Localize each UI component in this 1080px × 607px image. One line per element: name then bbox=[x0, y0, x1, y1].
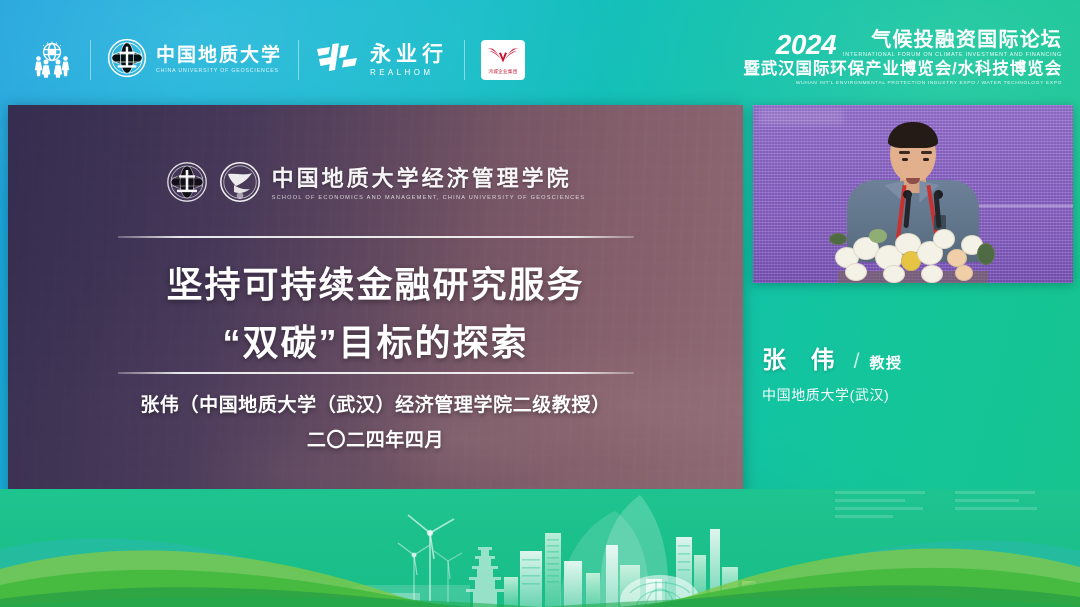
slide-title-line1: 坚持可持续金融研究服务 bbox=[166, 264, 584, 305]
hongcheng-logo-box: 鸿城企业集团 bbox=[481, 40, 525, 80]
slide-divider-bottom bbox=[118, 372, 634, 374]
school-name-cn: 中国地质大学经济管理学院 bbox=[272, 168, 586, 190]
cug-seal-icon bbox=[107, 38, 147, 83]
globe-people-icon bbox=[30, 38, 74, 83]
presentation-slide: 中国地质大学经济管理学院 SCHOOL OF ECONOMICS AND MAN… bbox=[8, 105, 743, 520]
speaker-eyebrow-right bbox=[921, 151, 932, 154]
speaker-title: 教授 bbox=[870, 352, 903, 373]
forum-year: 2024 bbox=[776, 32, 836, 59]
forum-subtitle-cn: 暨武汉国际环保产业博览会/水科技博览会 bbox=[743, 61, 1062, 78]
forum-subtitle-en: WUHAN INT'L ENVIRONMENTAL PROTECTION IND… bbox=[743, 81, 1062, 87]
speaker-eyebrow-left bbox=[899, 151, 910, 154]
speaker-eye-right bbox=[923, 158, 929, 161]
school-logo-lockup: 中国地质大学经济管理学院 SCHOOL OF ECONOMICS AND MAN… bbox=[166, 161, 586, 208]
slide-title: 坚持可持续金融研究服务 “双碳”目标的探索 bbox=[166, 256, 584, 373]
forum-title-stack: 气候投融资国际论坛 INTERNATIONAL FORUM ON CLIMATE… bbox=[843, 30, 1062, 58]
slide-divider-top bbox=[118, 236, 634, 238]
sponsor-logo-realhom: 永业行 REALHOM bbox=[299, 37, 464, 83]
slide-content: 中国地质大学经济管理学院 SCHOOL OF ECONOMICS AND MAN… bbox=[8, 105, 743, 520]
cug-name-cn: 中国地质大学 bbox=[156, 46, 282, 66]
speaker-name-row: 张 伟 / 教授 bbox=[762, 348, 903, 374]
sponsor-logo-cug: 中国地质大学 CHINA UNIVERSITY OF GEOSCIENCES bbox=[91, 37, 298, 83]
school-name-en: SCHOOL OF ECONOMICS AND MANAGEMENT, CHIN… bbox=[272, 196, 586, 202]
hongcheng-caption: 鸿城企业集团 bbox=[488, 70, 517, 75]
led-light-streak bbox=[971, 205, 1073, 207]
forum-title-en: INTERNATIONAL FORUM ON CLIMATE INVESTMEN… bbox=[843, 52, 1062, 58]
realhom-name-en: REALHOM bbox=[370, 69, 448, 77]
forum-title-cn: 气候投融资国际论坛 bbox=[843, 30, 1062, 50]
cug-seal-icon bbox=[166, 161, 208, 208]
slide-author: 张伟（中国地质大学（武汉）经济管理学院二级教授） bbox=[140, 395, 610, 416]
realhom-wordmark: 永业行 REALHOM bbox=[370, 44, 448, 77]
red-wing-w-icon bbox=[486, 46, 520, 69]
flower-arrangement bbox=[829, 227, 997, 283]
speaker-organization: 中国地质大学(武汉) bbox=[762, 385, 903, 405]
school-emblem-icon bbox=[219, 161, 261, 208]
green-city-skyline-illustration bbox=[0, 489, 1080, 607]
slide-date: 二〇二四年四月 bbox=[140, 423, 610, 458]
broadcast-screen: 中国地质大学 CHINA UNIVERSITY OF GEOSCIENCES bbox=[0, 0, 1080, 607]
speaker-separator: / bbox=[854, 350, 860, 374]
led-glare bbox=[759, 109, 842, 125]
cug-name-en: CHINA UNIVERSITY OF GEOSCIENCES bbox=[156, 68, 282, 74]
slide-byline: 张伟（中国地质大学（武汉）经济管理学院二级教授） 二〇二四年四月 bbox=[140, 388, 610, 458]
sponsor-logo-hongcheng: 鸿城企业集团 bbox=[465, 37, 541, 83]
cug-wordmark: 中国地质大学 CHINA UNIVERSITY OF GEOSCIENCES bbox=[156, 46, 282, 74]
forum-title-row: 2024 气候投融资国际论坛 INTERNATIONAL FORUM ON CL… bbox=[743, 30, 1062, 58]
sponsor-logo-globe-people bbox=[14, 37, 90, 83]
school-wordmark: 中国地质大学经济管理学院 SCHOOL OF ECONOMICS AND MAN… bbox=[272, 168, 586, 202]
speaker-video-feed[interactable] bbox=[753, 105, 1073, 283]
speaker-name: 张 伟 bbox=[762, 348, 844, 374]
realhom-name-cn: 永业行 bbox=[370, 44, 448, 65]
speaker-ident: 张 伟 / 教授 中国地质大学(武汉) bbox=[762, 348, 903, 405]
pagoda-icon bbox=[466, 547, 504, 607]
speaker-eye-left bbox=[902, 158, 908, 161]
slide-title-line2: “双碳”目标的探索 bbox=[166, 314, 584, 372]
realhom-yy-icon bbox=[315, 40, 361, 81]
sponsor-logo-bar: 中国地质大学 CHINA UNIVERSITY OF GEOSCIENCES bbox=[14, 32, 541, 88]
bottom-decoration-band bbox=[0, 489, 1080, 607]
forum-title-lockup: 2024 气候投融资国际论坛 INTERNATIONAL FORUM ON CL… bbox=[743, 30, 1062, 87]
